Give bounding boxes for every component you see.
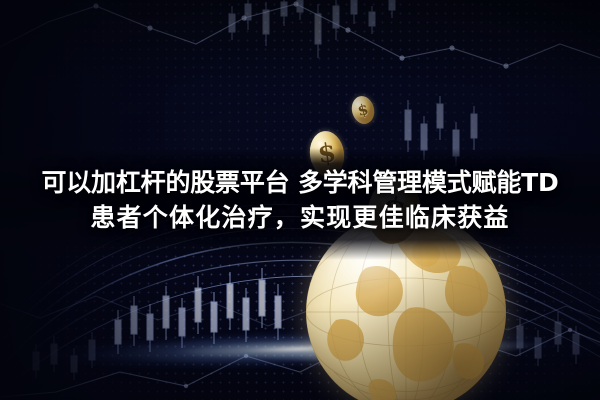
headline-line-2: 患者个体化治疗，实现更佳临床获益 bbox=[14, 201, 586, 236]
banner-image: $ $ $ 可以加杠杆的股票平台 多学科管理模式赋能TD 患者个体化治疗，实现更… bbox=[0, 0, 600, 400]
headline-text: 可以加杠杆的股票平台 多学科管理模式赋能TD 患者个体化治疗，实现更佳临床获益 bbox=[0, 166, 600, 235]
headline-line-1: 可以加杠杆的股票平台 多学科管理模式赋能TD bbox=[14, 166, 586, 201]
